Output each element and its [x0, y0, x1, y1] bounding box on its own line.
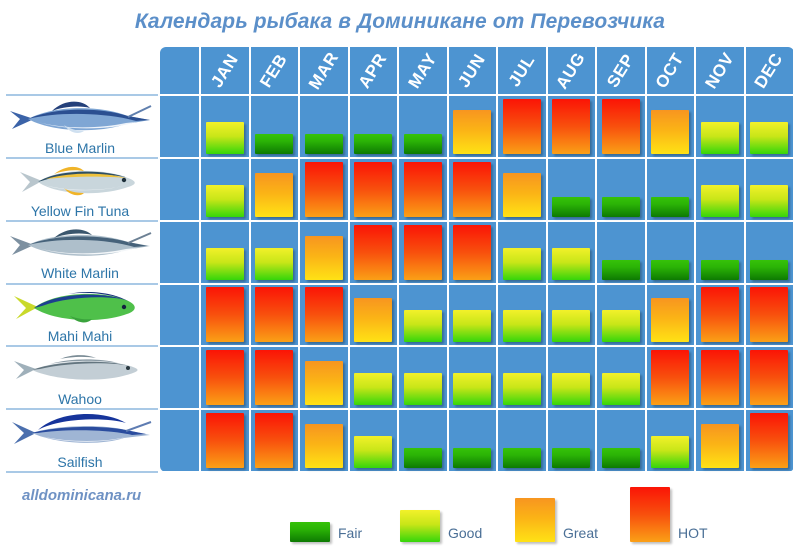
- month-header-apr[interactable]: APR: [349, 47, 399, 95]
- rating-bar[interactable]: [305, 361, 343, 405]
- legend-label-great: Great: [563, 525, 598, 541]
- rating-bar[interactable]: [453, 373, 491, 405]
- rating-bar[interactable]: [750, 122, 788, 154]
- species-name: Sailfish: [0, 454, 160, 470]
- rating-bar[interactable]: [701, 122, 739, 154]
- species-name: Blue Marlin: [0, 140, 160, 156]
- rating-bar[interactable]: [305, 134, 343, 154]
- rating-bar[interactable]: [255, 173, 293, 217]
- yellowfin-tuna-icon: [8, 160, 154, 204]
- rating-bar[interactable]: [206, 248, 244, 280]
- rating-bar[interactable]: [750, 260, 788, 280]
- rating-bar[interactable]: [354, 225, 392, 280]
- rating-bar[interactable]: [206, 185, 244, 217]
- grid-line-horizontal: [160, 408, 794, 410]
- species-row[interactable]: Mahi Mahi: [0, 284, 160, 347]
- rating-bar[interactable]: [651, 436, 689, 468]
- rating-bar[interactable]: [602, 448, 640, 468]
- rating-bar[interactable]: [701, 424, 739, 468]
- rating-bar[interactable]: [404, 448, 442, 468]
- month-header-label: JUN: [454, 51, 490, 92]
- rating-bar[interactable]: [552, 310, 590, 342]
- month-header-label: JAN: [207, 51, 243, 92]
- rating-bar[interactable]: [750, 350, 788, 405]
- month-header-label: JUL: [504, 51, 539, 90]
- rating-bar[interactable]: [503, 248, 541, 280]
- month-header-oct[interactable]: OCT: [646, 47, 696, 95]
- rating-bar[interactable]: [305, 162, 343, 217]
- rating-bar[interactable]: [701, 260, 739, 280]
- species-name: White Marlin: [0, 265, 160, 281]
- month-header-dec[interactable]: DEC: [745, 47, 795, 95]
- rating-bar[interactable]: [750, 287, 788, 342]
- rating-bar[interactable]: [453, 225, 491, 280]
- rating-bar[interactable]: [750, 185, 788, 217]
- rating-bar[interactable]: [354, 436, 392, 468]
- rating-bar[interactable]: [552, 373, 590, 405]
- rating-bar[interactable]: [255, 134, 293, 154]
- legend-swatch-hot: [630, 487, 670, 542]
- rating-bar[interactable]: [651, 110, 689, 154]
- rating-bar[interactable]: [354, 162, 392, 217]
- rating-bar[interactable]: [503, 173, 541, 217]
- month-header-label: SEP: [603, 51, 639, 92]
- rating-bar[interactable]: [602, 197, 640, 217]
- rating-bar[interactable]: [206, 287, 244, 342]
- rating-bar[interactable]: [750, 413, 788, 468]
- species-name: Yellow Fin Tuna: [0, 203, 160, 219]
- fishing-calendar-infographic: Календарь рыбака в Доминикане от Перевоз…: [0, 0, 800, 550]
- rating-bar[interactable]: [503, 310, 541, 342]
- month-header-may[interactable]: MAY: [398, 47, 448, 95]
- species-row[interactable]: Blue Marlin: [0, 95, 160, 158]
- calendar-grid: JANFEBMARAPRMAYJUNJULAUGSEPOCTNOVDEC: [160, 47, 794, 472]
- month-header-label: NOV: [701, 49, 738, 92]
- month-header-label: AUG: [552, 49, 590, 93]
- month-header-jun[interactable]: JUN: [448, 47, 498, 95]
- rating-bar[interactable]: [552, 448, 590, 468]
- rating-bar[interactable]: [651, 350, 689, 405]
- month-header-label: MAR: [305, 49, 343, 94]
- species-name: Wahoo: [0, 391, 160, 407]
- rating-bar[interactable]: [404, 373, 442, 405]
- wahoo-icon: [8, 348, 154, 392]
- month-header-label: FEB: [256, 51, 292, 92]
- rating-bar[interactable]: [404, 162, 442, 217]
- rating-bar[interactable]: [305, 424, 343, 468]
- rating-bar[interactable]: [552, 99, 590, 154]
- rating-bar[interactable]: [503, 99, 541, 154]
- month-header-label: MAY: [404, 50, 441, 93]
- legend-label-fair: Fair: [338, 525, 362, 541]
- rating-bar[interactable]: [503, 448, 541, 468]
- species-row[interactable]: Sailfish: [0, 409, 160, 472]
- site-watermark: alldominicana.ru: [22, 487, 141, 504]
- rating-bar[interactable]: [404, 310, 442, 342]
- sailfish-icon: [8, 411, 154, 455]
- rating-bar[interactable]: [552, 248, 590, 280]
- legend-label-good: Good: [448, 525, 482, 541]
- rating-bar[interactable]: [651, 197, 689, 217]
- species-separator: [6, 471, 158, 473]
- month-header-aug[interactable]: AUG: [547, 47, 597, 95]
- month-header-feb[interactable]: FEB: [250, 47, 300, 95]
- legend: FairGoodGreatHOT: [290, 482, 710, 542]
- mahi-mahi-icon: [8, 286, 154, 330]
- rating-bar[interactable]: [206, 350, 244, 405]
- rating-bar[interactable]: [453, 448, 491, 468]
- species-separator: [6, 94, 158, 96]
- month-header-label: OCT: [652, 50, 689, 92]
- rating-bar[interactable]: [651, 260, 689, 280]
- grid-line-horizontal: [160, 283, 794, 285]
- rating-bar[interactable]: [453, 310, 491, 342]
- rating-bar[interactable]: [453, 110, 491, 154]
- rating-bar[interactable]: [206, 122, 244, 154]
- month-header-label: DEC: [751, 50, 788, 92]
- rating-bar[interactable]: [602, 260, 640, 280]
- legend-swatch-fair: [290, 522, 330, 542]
- species-row[interactable]: White Marlin: [0, 221, 160, 284]
- rating-bar[interactable]: [701, 350, 739, 405]
- rating-bar[interactable]: [354, 134, 392, 154]
- rating-bar[interactable]: [503, 373, 541, 405]
- grid-line-horizontal: [160, 345, 794, 347]
- rating-bar[interactable]: [354, 373, 392, 405]
- month-header-mar[interactable]: MAR: [299, 47, 349, 95]
- month-header-sep[interactable]: SEP: [596, 47, 646, 95]
- page-title: Календарь рыбака в Доминикане от Перевоз…: [0, 10, 800, 34]
- rating-bar[interactable]: [404, 134, 442, 154]
- grid-line-horizontal: [160, 157, 794, 159]
- legend-swatch-good: [400, 510, 440, 542]
- species-row[interactable]: Wahoo: [0, 346, 160, 409]
- rating-bar[interactable]: [255, 413, 293, 468]
- rating-bar[interactable]: [404, 225, 442, 280]
- rating-bar[interactable]: [701, 185, 739, 217]
- rating-bar[interactable]: [552, 197, 590, 217]
- blue-marlin-icon: [8, 97, 154, 141]
- rating-bar[interactable]: [255, 287, 293, 342]
- rating-bar[interactable]: [255, 350, 293, 405]
- rating-bar[interactable]: [602, 373, 640, 405]
- month-header-nov[interactable]: NOV: [695, 47, 745, 95]
- month-header-jan[interactable]: JAN: [200, 47, 250, 95]
- legend-label-hot: HOT: [678, 525, 708, 541]
- rating-bar[interactable]: [305, 287, 343, 342]
- rating-bar[interactable]: [651, 298, 689, 342]
- rating-bar[interactable]: [701, 287, 739, 342]
- species-row[interactable]: Yellow Fin Tuna: [0, 158, 160, 221]
- rating-bar[interactable]: [354, 298, 392, 342]
- rating-bar[interactable]: [206, 413, 244, 468]
- rating-bar[interactable]: [602, 310, 640, 342]
- rating-bar[interactable]: [453, 162, 491, 217]
- grid-line-horizontal: [160, 220, 794, 222]
- rating-bar[interactable]: [255, 248, 293, 280]
- legend-swatch-great: [515, 498, 555, 542]
- month-header-label: APR: [355, 50, 392, 92]
- species-name: Mahi Mahi: [0, 328, 160, 344]
- white-marlin-icon: [8, 223, 154, 267]
- grid-line-horizontal: [160, 471, 794, 473]
- rating-bar[interactable]: [305, 236, 343, 280]
- rating-bar[interactable]: [602, 99, 640, 154]
- month-header-jul[interactable]: JUL: [497, 47, 547, 95]
